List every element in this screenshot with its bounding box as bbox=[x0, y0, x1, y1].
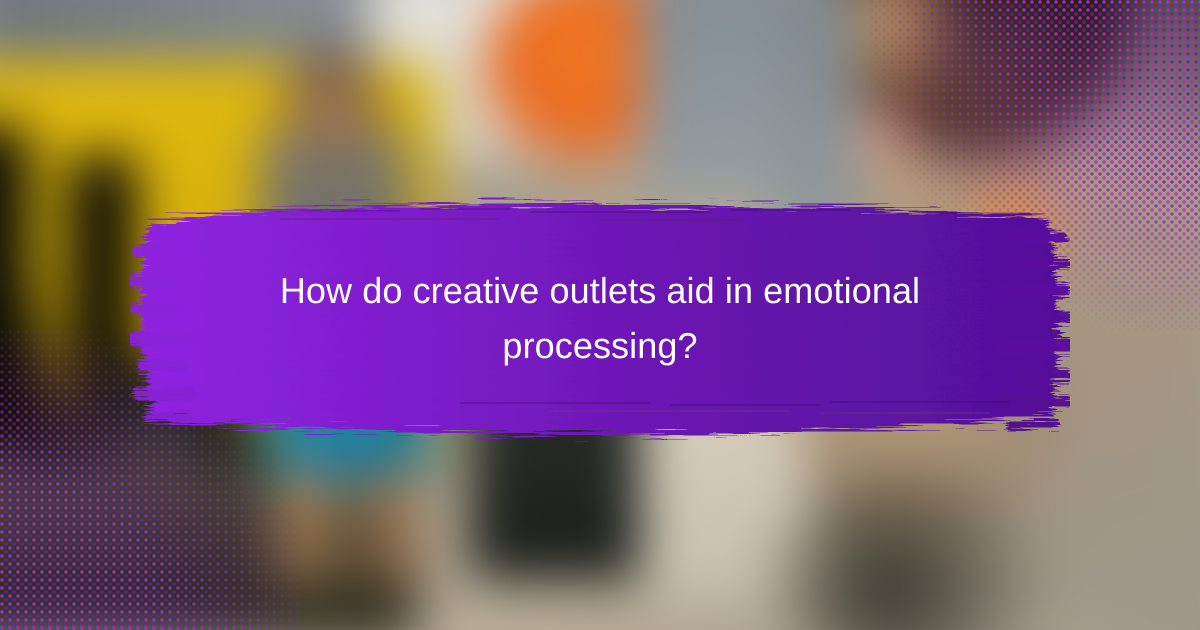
bg-person-leg-left bbox=[275, 470, 335, 590]
bg-person-head bbox=[285, 50, 380, 155]
headline-line-2: processing? bbox=[502, 319, 697, 374]
bg-vignette-top-right bbox=[920, 0, 1200, 140]
bg-person-leg-right bbox=[360, 470, 422, 590]
headline-line-1: How do creative outlets aid in emotional bbox=[280, 264, 920, 319]
social-card: How do creative outlets aid in emotional… bbox=[0, 0, 1200, 630]
headline: How do creative outlets aid in emotional… bbox=[200, 188, 1000, 450]
